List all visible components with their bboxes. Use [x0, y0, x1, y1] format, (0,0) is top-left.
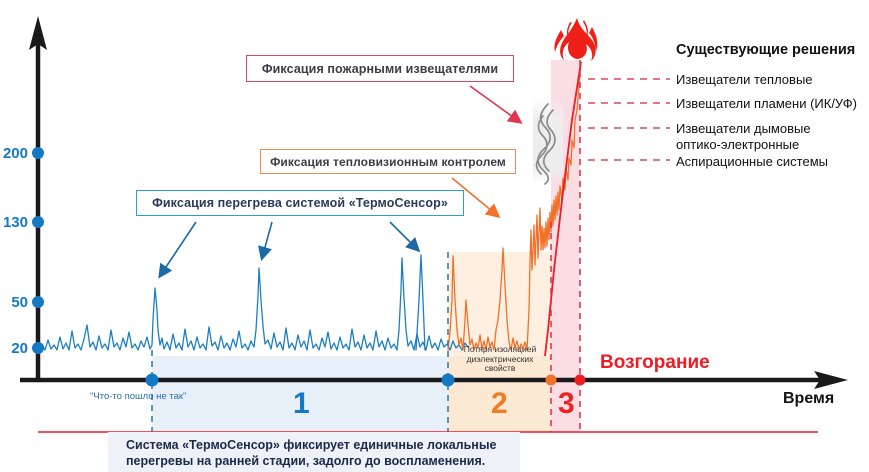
- flame-icon: [554, 18, 597, 61]
- infographic-root: 200 130 50 20 Фиксация пожарными извещат…: [0, 0, 869, 465]
- callout-fire-detectors[interactable]: Фиксация пожарными извещателями: [246, 55, 514, 82]
- y-tick-label-200: 200: [0, 145, 28, 162]
- legend-item-flame-detectors[interactable]: Извещатели пламени (ИК/УФ): [676, 96, 857, 111]
- legend-item-heat-detectors[interactable]: Извещатели тепловые: [676, 72, 813, 87]
- y-tick-label-130: 130: [0, 214, 28, 231]
- callout-thermal-imaging[interactable]: Фиксация тепловизионным контролем: [260, 149, 516, 174]
- y-tick-label-20: 20: [0, 340, 28, 357]
- thermosensor-signal-line: [38, 255, 468, 350]
- legend-item-aspiration-systems[interactable]: Аспирационные системы: [676, 154, 828, 169]
- callout-thermosensor[interactable]: Фиксация перегрева системой «ТермоСенсор…: [136, 190, 464, 216]
- annotation-something-wrong: "Что-то пошло не так": [90, 391, 186, 402]
- legend-item-smoke-detectors[interactable]: Извещатели дымовые: [676, 121, 811, 136]
- zone-number-3: 3: [558, 389, 575, 419]
- callout-arrows: [160, 86, 520, 276]
- legend-title: Существующие решения: [676, 42, 855, 58]
- y-tick-label-50: 50: [0, 294, 28, 311]
- x-axis-label: Время: [783, 390, 834, 408]
- zone-number-2: 2: [491, 389, 508, 419]
- annotation-dielectric-loss: Потяря изоляцией диэлектрических свойств: [444, 345, 556, 374]
- zone-fills: [152, 45, 580, 432]
- annotation-ignition: Возгорание: [600, 352, 710, 374]
- caption-line-1: Система «ТермоСенсор» фиксирует единичны…: [126, 437, 510, 453]
- legend-leader-lines: [588, 79, 670, 160]
- caption-line-2: перегревы на ранней стадии, задолго до в…: [126, 453, 510, 469]
- legend-item-smoke-detectors-line2: оптико-электронные: [676, 137, 799, 152]
- dielectric-loss-line-3: свойств: [444, 364, 556, 374]
- bottom-caption: Система «ТермоСенсор» фиксирует единичны…: [108, 432, 520, 472]
- zone-number-1: 1: [293, 389, 310, 419]
